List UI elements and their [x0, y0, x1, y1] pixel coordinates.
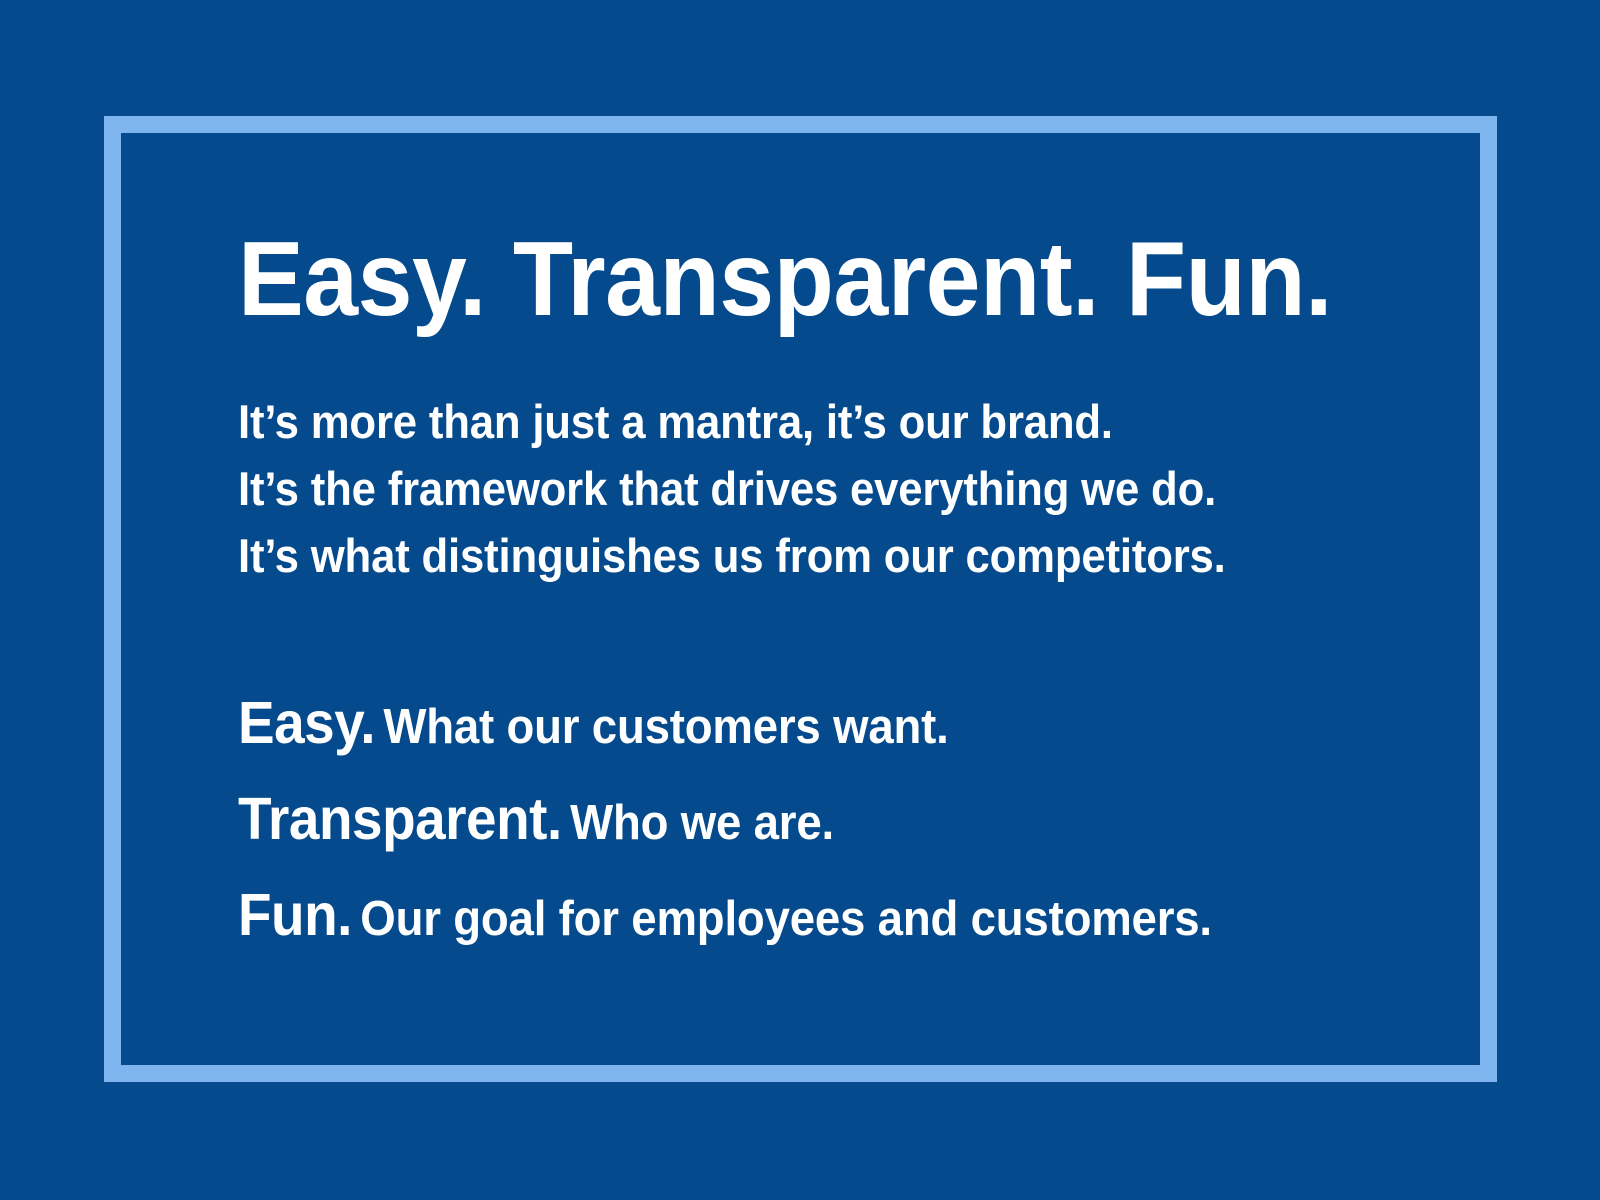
intro-paragraph: It’s more than just a mantra, it’s our b…	[238, 388, 1418, 589]
pillar-term-easy: Easy.	[238, 690, 375, 756]
pillar-description-transparent: Who we are.	[570, 796, 834, 850]
pillar-term-fun: Fun.	[238, 882, 352, 948]
slide-content: Easy. Transparent. Fun. It’s more than j…	[238, 222, 1418, 971]
pillar-item-fun: Fun.Our goal for employees and customers…	[238, 875, 1335, 971]
pillar-item-transparent: Transparent.Who we are.	[238, 779, 1335, 875]
slide-canvas: Easy. Transparent. Fun. It’s more than j…	[0, 0, 1600, 1200]
pillar-list: Easy.What our customers want. Transparen…	[238, 683, 1418, 971]
pillar-description-fun: Our goal for employees and customers.	[360, 892, 1212, 946]
page-title: Easy. Transparent. Fun.	[238, 222, 1335, 336]
pillar-item-easy: Easy.What our customers want.	[238, 683, 1335, 779]
intro-line-2: It’s the framework that drives everythin…	[238, 455, 1335, 522]
pillar-term-transparent: Transparent.	[238, 786, 562, 852]
pillar-description-easy: What our customers want.	[383, 700, 948, 754]
intro-line-1: It’s more than just a mantra, it’s our b…	[238, 388, 1335, 455]
intro-line-3: It’s what distinguishes us from our comp…	[238, 522, 1335, 589]
